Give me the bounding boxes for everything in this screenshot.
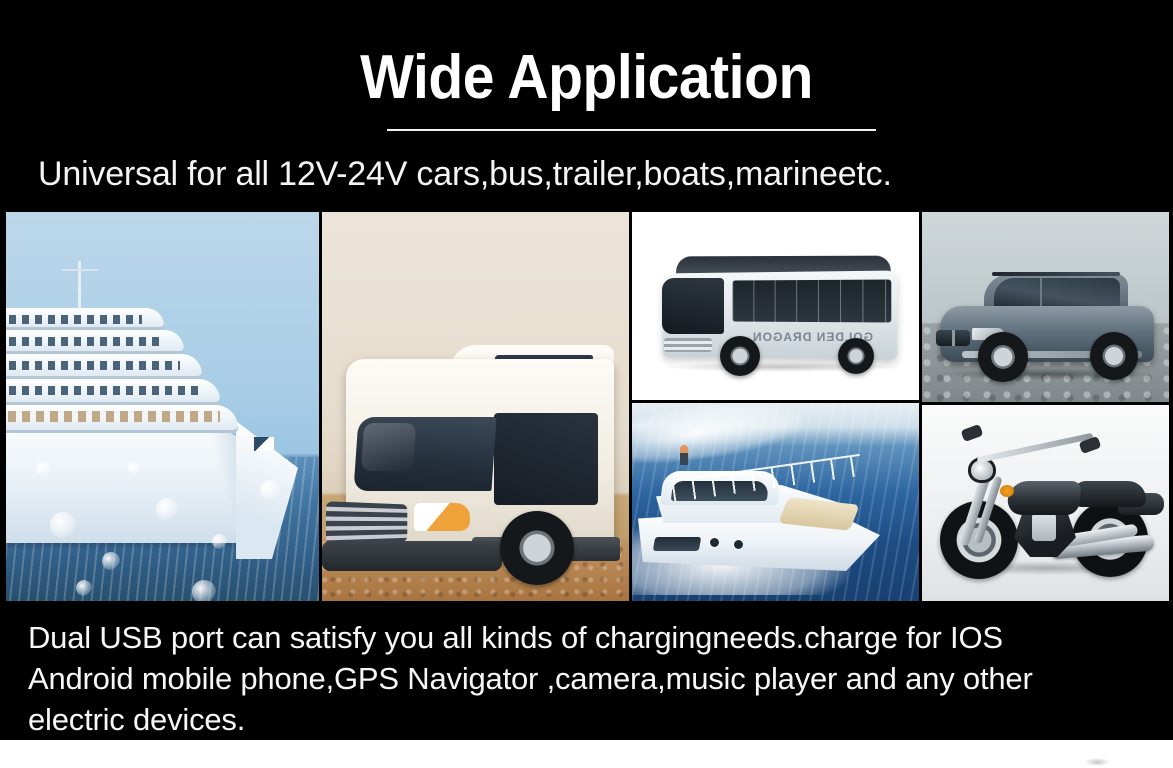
rv-side-window	[494, 413, 598, 505]
footer-line-3: electric devices.	[28, 699, 1168, 740]
poster-root: Wide Application Universal for all 12V-2…	[0, 0, 1173, 740]
moto-seat	[1072, 481, 1146, 507]
bus-front-wheel	[720, 336, 760, 376]
ship-deck-2	[6, 379, 220, 405]
ship-deck-1	[6, 405, 238, 433]
collage-cell-motor-yacht	[632, 403, 919, 601]
moto-fuel-tank	[1006, 481, 1082, 515]
vehicle-collage: GEMINI GOLDEN DRAGON	[0, 208, 1173, 605]
water-bokeh	[50, 512, 76, 538]
bus-rear-wheel	[838, 338, 874, 374]
rv-windshield	[353, 417, 496, 491]
water-bokeh	[128, 462, 140, 474]
rv-bumper	[322, 541, 502, 571]
collage-cell-motorcycle	[922, 405, 1169, 601]
water-bokeh	[192, 580, 216, 601]
bus-side-windows	[732, 280, 891, 323]
title-divider	[387, 129, 876, 131]
water-bokeh	[76, 580, 92, 596]
collage-cell-coach-bus: GOLDEN DRAGON	[632, 212, 919, 400]
ship-mast	[78, 261, 81, 309]
rv-grille	[326, 501, 407, 545]
rv-wheel	[500, 511, 574, 585]
water-bokeh	[156, 498, 178, 520]
ship-flag	[254, 437, 274, 451]
yacht-porthole	[734, 540, 743, 549]
collage-cell-cruise-ship	[6, 212, 319, 601]
ship-deck-3	[6, 354, 202, 379]
footer-line-1: Dual USB port can satisfy you all kinds …	[28, 617, 1168, 658]
yacht-person	[680, 445, 688, 465]
water-bokeh	[36, 462, 50, 476]
car-roof-rail	[992, 272, 1120, 276]
yacht-porthole	[710, 538, 719, 547]
collage-cell-rv-camper: GEMINI	[322, 212, 629, 601]
water-bokeh	[260, 480, 280, 500]
bus-windshield	[662, 278, 724, 334]
subtitle-text: Universal for all 12V-24V cars,bus,trail…	[38, 152, 1138, 196]
collage-cell-station-wagon	[922, 212, 1169, 402]
ship-window-row-2	[6, 386, 198, 395]
bottom-white-band	[0, 740, 1173, 768]
car-grille	[936, 330, 970, 346]
ship-window-row-5	[6, 315, 142, 324]
car-front-wheel	[978, 332, 1028, 382]
ship-deck-4	[6, 330, 184, 354]
header-section: Wide Application Universal for all 12V-2…	[0, 0, 1173, 208]
footer-line-2: Android mobile phone,GPS Navigator ,came…	[28, 658, 1168, 699]
bus-grille	[664, 338, 712, 352]
bottom-smudge-mark	[1084, 758, 1110, 766]
footer-section: Dual USB port can satisfy you all kinds …	[0, 605, 1173, 740]
car-rear-wheel	[1090, 332, 1138, 380]
water-bokeh	[212, 534, 227, 549]
ship-window-row-4	[6, 337, 162, 346]
moto-indicator-lamp	[1000, 485, 1014, 497]
ship-window-row-3	[6, 361, 180, 370]
water-bokeh	[102, 552, 120, 570]
yacht-hull-window	[653, 537, 701, 551]
ship-balcony-row	[6, 411, 220, 422]
ship-deck-5	[6, 308, 164, 330]
page-title: Wide Application	[47, 42, 1126, 114]
ship-hull	[6, 423, 272, 543]
rv-headlamp	[414, 503, 470, 531]
